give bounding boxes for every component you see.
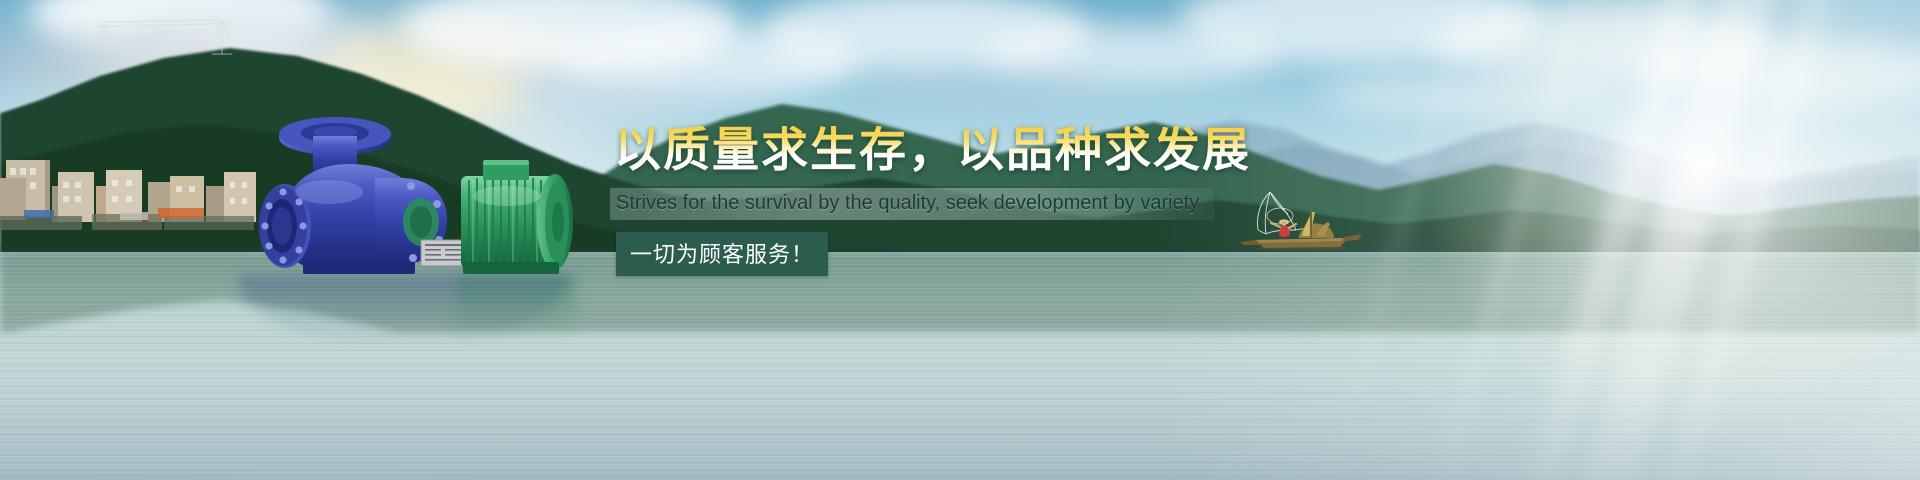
banner-text-block: 以质量求生存，以品种求发展 Strives for the survival b… (614, 126, 1214, 286)
banner-subtitle: Strives for the survival by the quality,… (616, 192, 1199, 215)
service-slogan-badge: 一切为顾客服务！ (616, 232, 828, 276)
banner-headline: 以质量求生存，以品种求发展 (614, 126, 1251, 175)
hero-banner: 以质量求生存，以品种求发展 Strives for the survival b… (0, 0, 1920, 480)
subtitle-divider-rule (610, 186, 1210, 188)
